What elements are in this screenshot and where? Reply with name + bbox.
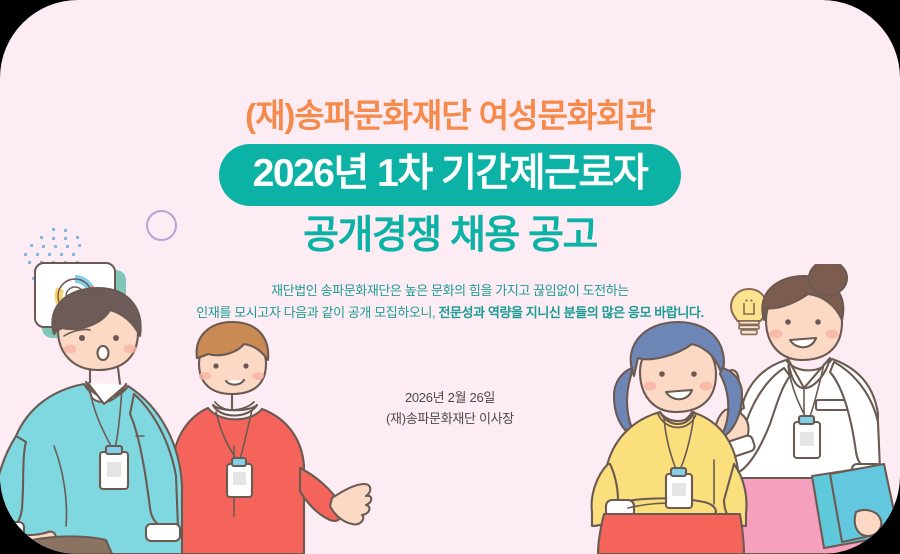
poster-text-block: (재)송파문화재단 여성문화회관 2026년 1차 기간제근로자 공개경쟁 채용… bbox=[0, 0, 900, 430]
signature-block: 2026년 2월 26일 (재)송파문화재단 이사장 bbox=[0, 387, 900, 430]
signature-issuer: (재)송파문화재단 이사장 bbox=[0, 408, 900, 430]
recruitment-poster: (재)송파문화재단 여성문화회관 2026년 1차 기간제근로자 공개경쟁 채용… bbox=[0, 0, 900, 554]
body-line-2-bold: 전문성과 역량을 지니신 분들의 많은 응모 바랍니다. bbox=[438, 305, 703, 320]
body-line-2: 인재를 모시고자 다음과 같이 공개 모집하오니, 전문성과 역량을 지니신 분… bbox=[0, 302, 900, 324]
body-paragraph: 재단법인 송파문화재단은 높은 문화의 힘을 가지고 끊임없이 도전하는 인재를… bbox=[0, 280, 900, 325]
body-line-2-regular: 인재를 모시고자 다음과 같이 공개 모집하오니, bbox=[196, 305, 435, 320]
announcement-headline: 공개경쟁 채용 공고 bbox=[0, 215, 900, 258]
signature-date: 2026년 2월 26일 bbox=[0, 387, 900, 409]
headline-pill-wrap: 2026년 1차 기간제근로자 bbox=[0, 144, 900, 206]
organization-headline: (재)송파문화재단 여성문화회관 bbox=[0, 98, 900, 134]
body-line-1: 재단법인 송파문화재단은 높은 문화의 힘을 가지고 끊임없이 도전하는 bbox=[0, 280, 900, 302]
recruitment-title-pill: 2026년 1차 기간제근로자 bbox=[219, 144, 682, 206]
